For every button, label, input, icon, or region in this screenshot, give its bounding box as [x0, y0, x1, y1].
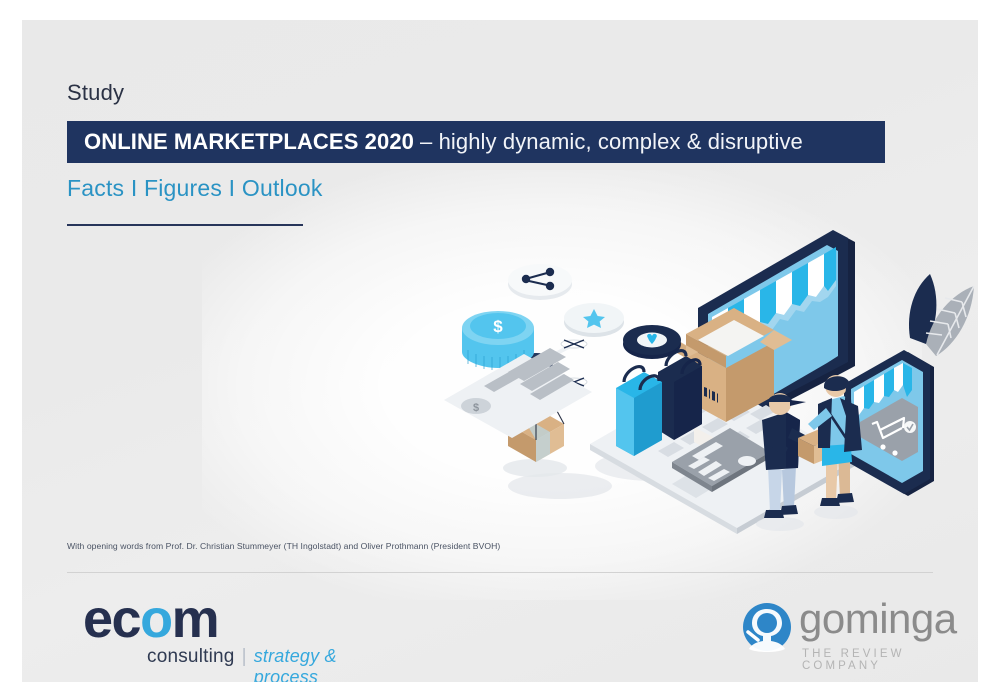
- gominga-wordmark: gominga: [799, 598, 957, 640]
- screenshot-root: $ $: [0, 0, 1000, 700]
- footnote-text: With opening words from Prof. Dr. Christ…: [67, 541, 500, 551]
- ecom-wordmark: ecom: [83, 592, 218, 646]
- page-title-bar: ONLINE MARKETPLACES 2020 – highly dynami…: [67, 121, 885, 163]
- ecom-word-accent-o: o: [140, 589, 172, 649]
- gominga-logo: gominga THE REVIEW COMPANY: [732, 590, 957, 670]
- invoice-stamp-dollar: $: [473, 402, 479, 414]
- share-badge: [508, 264, 572, 300]
- page-title-rest: – highly dynamic, complex & disruptive: [420, 129, 803, 155]
- footer-divider: [67, 572, 933, 573]
- page-subtitle: Facts I Figures I Outlook: [67, 175, 323, 202]
- presentation-slide: $ $: [22, 20, 978, 682]
- star-badge: [564, 303, 624, 337]
- isometric-marketplace-svg: $ $: [440, 216, 978, 546]
- subtitle-rule: [67, 224, 303, 226]
- page-title-strong: ONLINE MARKETPLACES 2020: [84, 129, 414, 155]
- ecom-word-part1: ec: [83, 589, 140, 649]
- ecom-consulting-label: consulting: [147, 646, 235, 668]
- dollar-sign: $: [493, 317, 503, 336]
- ecom-consulting-logo: ecom consulting | strategy & process: [67, 590, 397, 670]
- invoice-document: $: [444, 348, 592, 438]
- ecom-subline: consulting | strategy & process: [147, 646, 397, 682]
- cart-wheel: [892, 450, 897, 455]
- page-eyebrow: Study: [67, 80, 124, 106]
- ecom-word-part2: m: [172, 589, 219, 649]
- cart-badge: [904, 421, 916, 433]
- hero-illustration: $ $: [440, 216, 978, 546]
- heart-badge: [623, 325, 681, 359]
- ecom-tagline: strategy & process: [254, 646, 397, 682]
- credit-card-chip: [738, 456, 756, 466]
- gominga-mark-icon: [742, 602, 792, 652]
- ecom-divider: |: [242, 646, 247, 668]
- cart-wheel: [880, 444, 885, 449]
- gominga-tagline: THE REVIEW COMPANY: [802, 648, 957, 672]
- ground-shadow: [508, 473, 612, 499]
- leaves-decoration: [909, 274, 974, 356]
